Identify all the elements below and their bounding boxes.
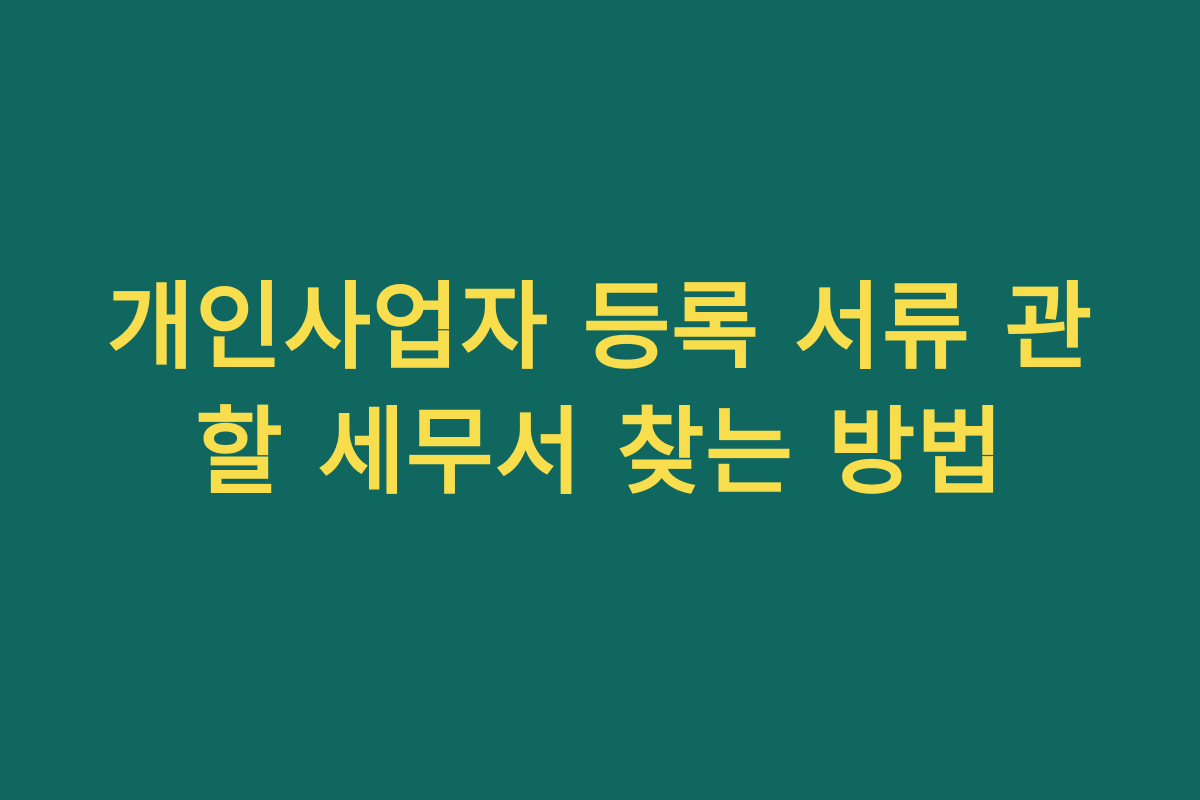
headline-block: 개인사업자 등록 서류 관 할 세무서 찾는 방법 [0,0,1200,800]
headline-line-2: 할 세무서 찾는 방법 [195,391,1004,516]
title-card: 개인사업자 등록 서류 관 할 세무서 찾는 방법 [0,0,1200,800]
headline-line-1: 개인사업자 등록 서류 관 [107,266,1093,391]
